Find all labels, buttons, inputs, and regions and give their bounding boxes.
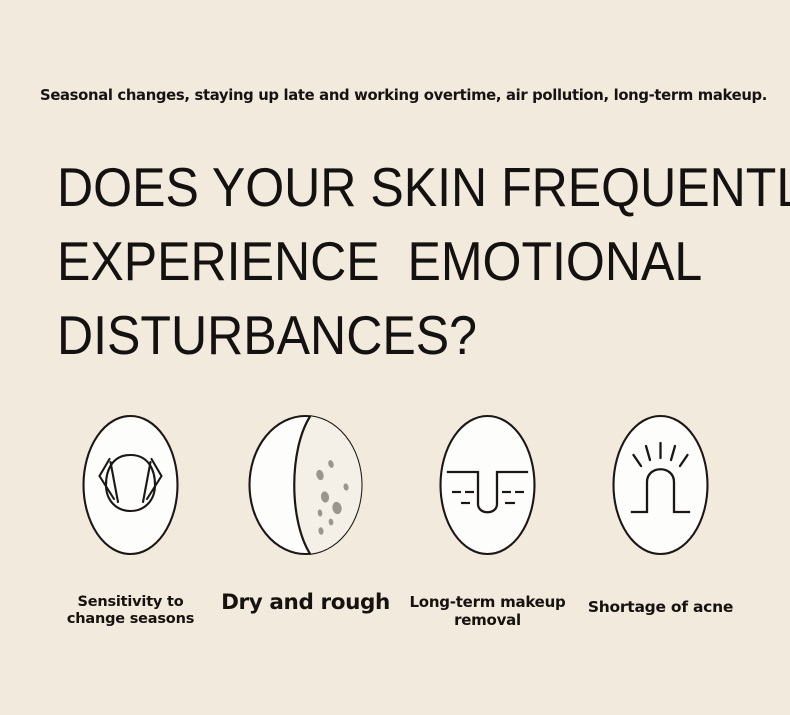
subtitle-text: Seasonal changes, staying up late and wo… xyxy=(40,86,737,104)
symptom-label-line-1: Dry and rough xyxy=(213,590,398,615)
symptom-label-line-2: removal xyxy=(395,612,580,630)
symptom-icon-row: Sensitivity to change seasons xyxy=(0,398,790,658)
symptom-item-makeup: Long-term makeup removal xyxy=(395,398,580,658)
symptom-item-dry: Dry and rough xyxy=(213,398,398,658)
symptom-label-line-2: change seasons xyxy=(38,611,223,628)
sensitive-skin-icon xyxy=(38,398,223,573)
symptom-item-acne: Shortage of acne xyxy=(568,398,753,658)
pore-furrow-icon xyxy=(395,398,580,573)
symptom-label-makeup: Long-term makeup removal xyxy=(395,594,580,629)
skincare-poster: Seasonal changes, staying up late and wo… xyxy=(0,0,790,715)
acne-bump-icon xyxy=(568,398,753,573)
headline-line-1: DOES YOUR SKIN FREQUENTLY xyxy=(57,150,694,224)
page-title: DOES YOUR SKIN FREQUENTLY EXPERIENCE EMO… xyxy=(57,150,757,372)
symptom-item-sensitivity: Sensitivity to change seasons xyxy=(38,398,223,658)
symptom-label-line-1: Shortage of acne xyxy=(568,598,753,616)
symptom-label-dry: Dry and rough xyxy=(213,590,398,615)
headline-line-3: DISTURBANCES? xyxy=(57,298,694,372)
symptom-label-line-1: Long-term makeup xyxy=(395,594,580,612)
headline-line-2: EXPERIENCE EMOTIONAL xyxy=(57,224,694,298)
dry-flaky-skin-icon xyxy=(213,398,398,573)
symptom-label-sensitivity: Sensitivity to change seasons xyxy=(38,594,223,628)
symptom-label-acne: Shortage of acne xyxy=(568,598,753,616)
symptom-label-line-1: Sensitivity to xyxy=(38,594,223,611)
